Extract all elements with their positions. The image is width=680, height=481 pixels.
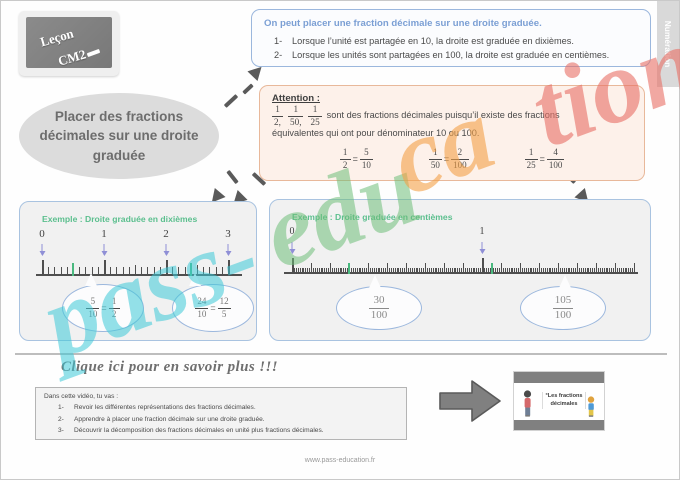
axis-tick-major [166,260,168,275]
callout-hundredths-1: 30 100 [336,286,422,330]
axis-tick-minor [568,268,569,273]
axis-tick-minor [478,268,479,273]
axis-tick-minor [571,268,572,273]
rule-item-number: 1- [274,34,282,48]
axis-tick-minor [512,268,513,273]
axis-tick-minor [493,268,494,273]
axis-tick-minor [461,268,462,273]
axis-tick-minor [522,268,523,273]
axis-tick-minor [343,268,344,273]
axis-tick-minor [516,268,517,273]
axis-tick-minor [457,268,458,273]
axis-tick-minor [425,263,426,273]
axis-tick-minor [391,268,392,273]
axis-tick-minor [436,268,437,273]
axis-tick-minor [372,268,373,273]
axis-tick-minor [160,267,161,275]
axis-tick-minor [370,268,371,273]
axis-tick-minor [619,268,620,273]
axis-label: 0 [290,226,295,237]
axis-tick-minor [505,268,506,273]
axis-tick-minor [321,268,322,273]
axis-tick-minor [381,268,382,273]
axis-tick-minor [366,268,367,273]
axis-tick-minor [326,268,327,273]
axis-tick-minor [549,268,550,273]
attention-fraction-row: 1 2, 1 50, 1 25 sont des fractions décim… [272,105,632,127]
axis-tick-minor [630,268,631,273]
axis-tick-major [228,260,230,275]
attention-equations: 1 2 = 5 10 1 50 = 2 [272,148,632,170]
axis-tick-minor [625,268,626,273]
axis-tick-minor [338,268,339,273]
axis-tick-minor [336,268,337,273]
axis-tick-minor [471,268,472,273]
axis-tick-minor [577,263,578,273]
axis-tick-minor [486,268,487,273]
value-marker [491,263,493,274]
axis-tick-minor [376,268,377,273]
axis-tick-minor [550,268,551,273]
video-item: 1- Revoir les différentes représentation… [44,402,398,414]
right-arrow-icon [438,377,502,425]
axis-tick-minor [474,268,475,273]
axis-label: 2 [163,228,169,240]
axis-tick-minor [484,268,485,273]
axis-tick-minor [598,268,599,273]
axis-tick-minor [556,268,557,273]
axis-tick-minor [345,268,346,273]
axis-tick-minor [110,267,111,275]
axis-tick-minor [209,267,210,275]
axis-tick-minor [419,268,420,273]
axis-tick-minor [465,268,466,273]
axis-tick-minor [313,268,314,273]
axis-tick-minor [79,267,80,275]
axis-tick-minor [395,268,396,273]
axis-tick-minor [61,267,62,275]
axis-tick-minor [562,268,563,273]
axis-tick-major [42,260,44,275]
central-topic-node: Placer des fractions décimales sur une d… [19,93,219,179]
axis-tick-minor [378,268,379,273]
axis-tick-minor [592,268,593,273]
axis-tick-minor [216,267,217,275]
axis-tick-minor [298,268,299,273]
axis-tick-minor [135,265,136,275]
axis-tick-minor [609,268,610,273]
axis-tick-minor [467,268,468,273]
axis-tick-minor [406,263,407,273]
axis-tick-minor [503,268,504,273]
axis-tick-minor [623,268,624,273]
axis-tick-minor [583,268,584,273]
axis-tick-minor [520,263,521,273]
axis-tick-minor [613,268,614,273]
axis-tick-minor [575,268,576,273]
axis-tick-minor [48,267,49,275]
equation-twentyfifth: 1 25 = 4 100 [525,148,565,170]
axis-tick-minor [360,268,361,273]
axis-tick-minor [302,268,303,273]
axis-tick-minor [480,268,481,273]
axis-tick-minor [178,267,179,275]
axis-tick-minor [454,268,455,273]
axis-tick-minor [417,268,418,273]
axis-tick-minor [455,268,456,273]
axis-tick-minor [357,268,358,273]
rule-box-list: 1- Lorsque l’unité est partagée en 10, l… [264,34,638,63]
chalkboard-illustration: Leçon CM2 [19,11,119,76]
axis-tick-minor [596,263,597,273]
fraction-one-fiftieth: 1 50, [288,105,303,127]
axis-tick-minor [552,268,553,273]
axis-tick-minor [606,268,607,273]
axis-tick-minor [469,268,470,273]
axis-tick-minor [537,268,538,273]
attention-text-line1: sont des fractions décimales puisqu’il e… [327,109,560,123]
axis-tick-minor [604,268,605,273]
axis-tick-minor [385,268,386,273]
axis-tick-minor [330,263,331,273]
video-description-box: Dans cette vidéo, tu vas : 1- Revoir les… [35,387,407,440]
axis-tick-minor [448,268,449,273]
axis-tick-minor [554,268,555,273]
axis-tick-minor [322,268,323,273]
equals-sign: = [540,154,545,164]
axis-tick-minor [459,268,460,273]
axis-tick-minor [412,268,413,273]
axis-tick-minor [450,268,451,273]
fraction-one-half: 1 2, [272,105,283,127]
axis-tick-minor [296,268,297,273]
value-marker [348,263,350,274]
axis-label: 1 [480,226,485,237]
example-tenths-title: Exemple : Droite graduée en dixièmes [42,214,197,224]
central-topic-label: Placer des fractions décimales sur une d… [19,107,219,166]
axis-tick-minor [340,268,341,273]
axis-tick-minor [488,268,489,273]
axis-tick-minor [334,268,335,273]
rule-item-text: Lorsque l’unité est partagée en 10, la d… [292,36,574,46]
axis-tick-minor [495,268,496,273]
thumbnail-bottom-bar [514,420,604,430]
axis-tick-minor [315,268,316,273]
axis-tick-minor [421,268,422,273]
axis-tick-minor [427,268,428,273]
axis-tick-minor [67,267,68,275]
axis-tick-minor [141,267,142,275]
video-lead-text: Dans cette vidéo, tu vas : [44,393,398,400]
video-thumbnail[interactable]: °Les fractions décimales [513,371,605,431]
axis-tick-minor [423,268,424,273]
axis-tick-minor [499,268,500,273]
axis-tick-minor [581,268,582,273]
axis-tick-minor [632,268,633,273]
axis-pointer-icon [228,244,229,255]
equation-fiftieth: 1 50 = 2 100 [429,148,469,170]
axis-tick-minor [530,268,531,273]
axis-tick-minor [404,268,405,273]
axis-tick-minor [351,268,352,273]
axis-tick-minor [353,268,354,273]
video-item-text: Apprendre à placer une fraction décimale… [74,416,265,423]
axis-pointer-icon [104,244,105,255]
video-item: 2- Apprendre à placer une fraction décim… [44,414,398,426]
axis-tick-minor [98,267,99,275]
example-hundredths-title: Exemple : Droite graduée en centièmes [292,212,452,222]
axis-tick-minor [569,268,570,273]
axis-tick-minor [615,263,616,273]
video-item-list: 1- Revoir les différentes représentation… [44,402,398,437]
axis-tick-minor [497,268,498,273]
callout-tenths-2: 24 10 = 12 5 [172,284,254,332]
axis-label: 1 [101,228,107,240]
axis-pointer-icon [292,242,293,253]
axis-tick-minor [332,268,333,273]
axis-tick-minor [307,268,308,273]
axis-tick-minor [203,267,204,275]
axis-tick-minor [54,267,55,275]
fraction-30-100: 30 100 [369,295,390,321]
axis-tick-minor [294,268,295,273]
axis-tick-minor [514,268,515,273]
axis-tick-minor [476,268,477,273]
axis-tick-minor [400,268,401,273]
axis-tick-minor [600,268,601,273]
equals-sign: = [210,303,215,313]
axis-tick-minor [368,263,369,273]
axis-pointer-icon [482,242,483,253]
rule-item-text: Lorsque les unités sont partagées en 100… [292,50,609,60]
axis-tick-minor [539,263,540,273]
axis-tick-minor [379,268,380,273]
value-marker [72,263,74,276]
subject-tab-label: Numération [663,21,673,68]
subject-tab: Numération [657,1,679,87]
axis-tick-minor [626,268,627,273]
axis-tick-minor [579,268,580,273]
axis-tick-minor [533,268,534,273]
chalkboard-line-1: Leçon [38,26,75,51]
axis-tick-minor [300,268,301,273]
student-figure-left-icon [522,390,533,418]
axis-tick-minor [585,268,586,273]
rule-item-number: 2- [274,48,282,62]
axis-tick-minor [341,268,342,273]
video-item-number: 3- [58,425,64,437]
axis-tick-minor [362,268,363,273]
axis-tick-minor [116,267,117,275]
axis-tick-minor [383,268,384,273]
axis-tick-minor [463,263,464,273]
axis-tick-minor [587,268,588,273]
axis-tick-minor [359,268,360,273]
axis-tick-minor [545,268,546,273]
axis-tick-minor [438,268,439,273]
axis-tick-minor [364,268,365,273]
axis-tick-minor [444,263,445,273]
axis-tick-minor [442,268,443,273]
axis-tick-minor [531,268,532,273]
rule-box-heading: On peut placer une fraction décimale sur… [264,18,638,29]
axis-tick-minor [507,268,508,273]
axis-tick-minor [501,263,502,273]
rule-box: On peut placer une fraction décimale sur… [251,9,651,67]
lesson-page: Leçon CM2 Placer des fractions décimales… [0,0,680,480]
axis-tick-minor [431,268,432,273]
axis-tick-minor [317,268,318,273]
axis-tick-minor [172,267,173,275]
video-item: 3- Découvrir la décomposition des fracti… [44,425,398,437]
axis-tick-minor [305,268,306,273]
attention-title: Attention : [272,93,632,104]
axis-tick-minor [611,268,612,273]
axis-tick-minor [355,268,356,273]
video-item-number: 1- [58,402,64,414]
axis-tick-minor [397,268,398,273]
axis-tick-minor [374,268,375,273]
equals-sign: = [353,154,358,164]
fraction-one-twentyfifth: 1 25 [308,105,321,127]
axis-tick-minor [524,268,525,273]
equals-sign: = [101,303,106,313]
video-item-text: Découvrir la décomposition des fractions… [74,427,324,434]
axis-tick-minor [319,268,320,273]
callout-tenths-1: 5 10 = 1 2 [62,284,144,332]
chalkboard-line-2: CM2 [56,46,87,69]
thumbnail-top-bar [514,372,604,383]
axis-tick-minor [602,268,603,273]
axis-tick-minor [398,268,399,273]
axis-tick-minor [634,263,635,273]
axis-tick-minor [311,263,312,273]
axis-tick-minor [588,268,589,273]
axis-tick-minor [387,263,388,273]
footer-url: www.pass-education.fr [1,457,679,464]
axis-tick-minor [410,268,411,273]
axis-tick-minor [564,268,565,273]
example-box-hundredths: Exemple : Droite graduée en centièmes 01… [269,199,651,341]
axis-tick-minor [535,268,536,273]
attention-text-line2: équivalentes qui ont pour dénominateur 1… [272,127,632,141]
axis-tick-minor [511,268,512,273]
axis-tick-minor [328,268,329,273]
axis-tick-minor [416,268,417,273]
video-item-number: 2- [58,414,64,426]
axis-pointer-icon [166,244,167,255]
attention-box: Attention : 1 2, 1 50, 1 25 sont des fra… [259,85,645,181]
axis-tick-minor [541,268,542,273]
axis-tick-minor [408,268,409,273]
axis-tick-minor [518,268,519,273]
axis-tick-minor [543,268,544,273]
axis-tick-minor [185,267,186,275]
axis-tick-minor [433,268,434,273]
axis-tick-minor [594,268,595,273]
axis-tick-minor [607,268,608,273]
chalk-stick-icon [87,49,101,57]
equals-sign: = [444,154,449,164]
axis-tick-major [104,260,106,275]
axis-tick-minor [129,267,130,275]
fraction-105-100: 105 100 [553,295,574,321]
axis-label: 0 [39,228,45,240]
axis-tick-minor [429,268,430,273]
axis-tick-minor [526,268,527,273]
thumbnail-caption: °Les fractions décimales [542,392,586,409]
axis-tick-minor [509,268,510,273]
axis-tick-minor [528,268,529,273]
axis-tick-minor [560,268,561,273]
video-link-title[interactable]: Clique ici pour en savoir plus !!! [61,359,278,376]
axis-tick-minor [473,268,474,273]
axis-tick-minor [389,268,390,273]
axis-tick-minor [303,268,304,273]
axis-tick-minor [123,267,124,275]
axis-tick-minor [617,268,618,273]
axis-pointer-icon [42,244,43,255]
axis-tick-minor [309,268,310,273]
rule-item: 1- Lorsque l’unité est partagée en 10, l… [264,34,638,48]
axis-tick-minor [440,268,441,273]
rule-item: 2- Lorsque les unités sont partagées en … [264,48,638,62]
axis-tick-minor [435,268,436,273]
example-box-tenths: Exemple : Droite graduée en dixièmes 012… [19,201,257,341]
axis-tick-minor [222,267,223,275]
axis-tick-minor [628,268,629,273]
axis-tick-minor [547,268,548,273]
axis-tick-minor [154,267,155,275]
axis-tick-minor [566,268,567,273]
student-figure-right-icon [586,396,596,418]
axis-tick-minor [590,268,591,273]
axis-label: 3 [225,228,231,240]
chalkboard-surface: Leçon CM2 [26,17,112,68]
callout-hundredths-2: 105 100 [520,286,606,330]
axis-tick-minor [402,268,403,273]
axis-tick-minor [414,268,415,273]
axis-tick-minor [147,267,148,275]
axis-tick-minor [573,268,574,273]
axis-tick-minor [393,268,394,273]
axis-tick-minor [324,268,325,273]
video-item-text: Revoir les différentes représentations d… [74,404,256,411]
section-divider [15,353,667,355]
axis-tick-minor [621,268,622,273]
axis-tick-minor [446,268,447,273]
axis-tick-minor [452,268,453,273]
axis-tick-minor [558,263,559,273]
equation-half: 1 2 = 5 10 [340,148,373,170]
